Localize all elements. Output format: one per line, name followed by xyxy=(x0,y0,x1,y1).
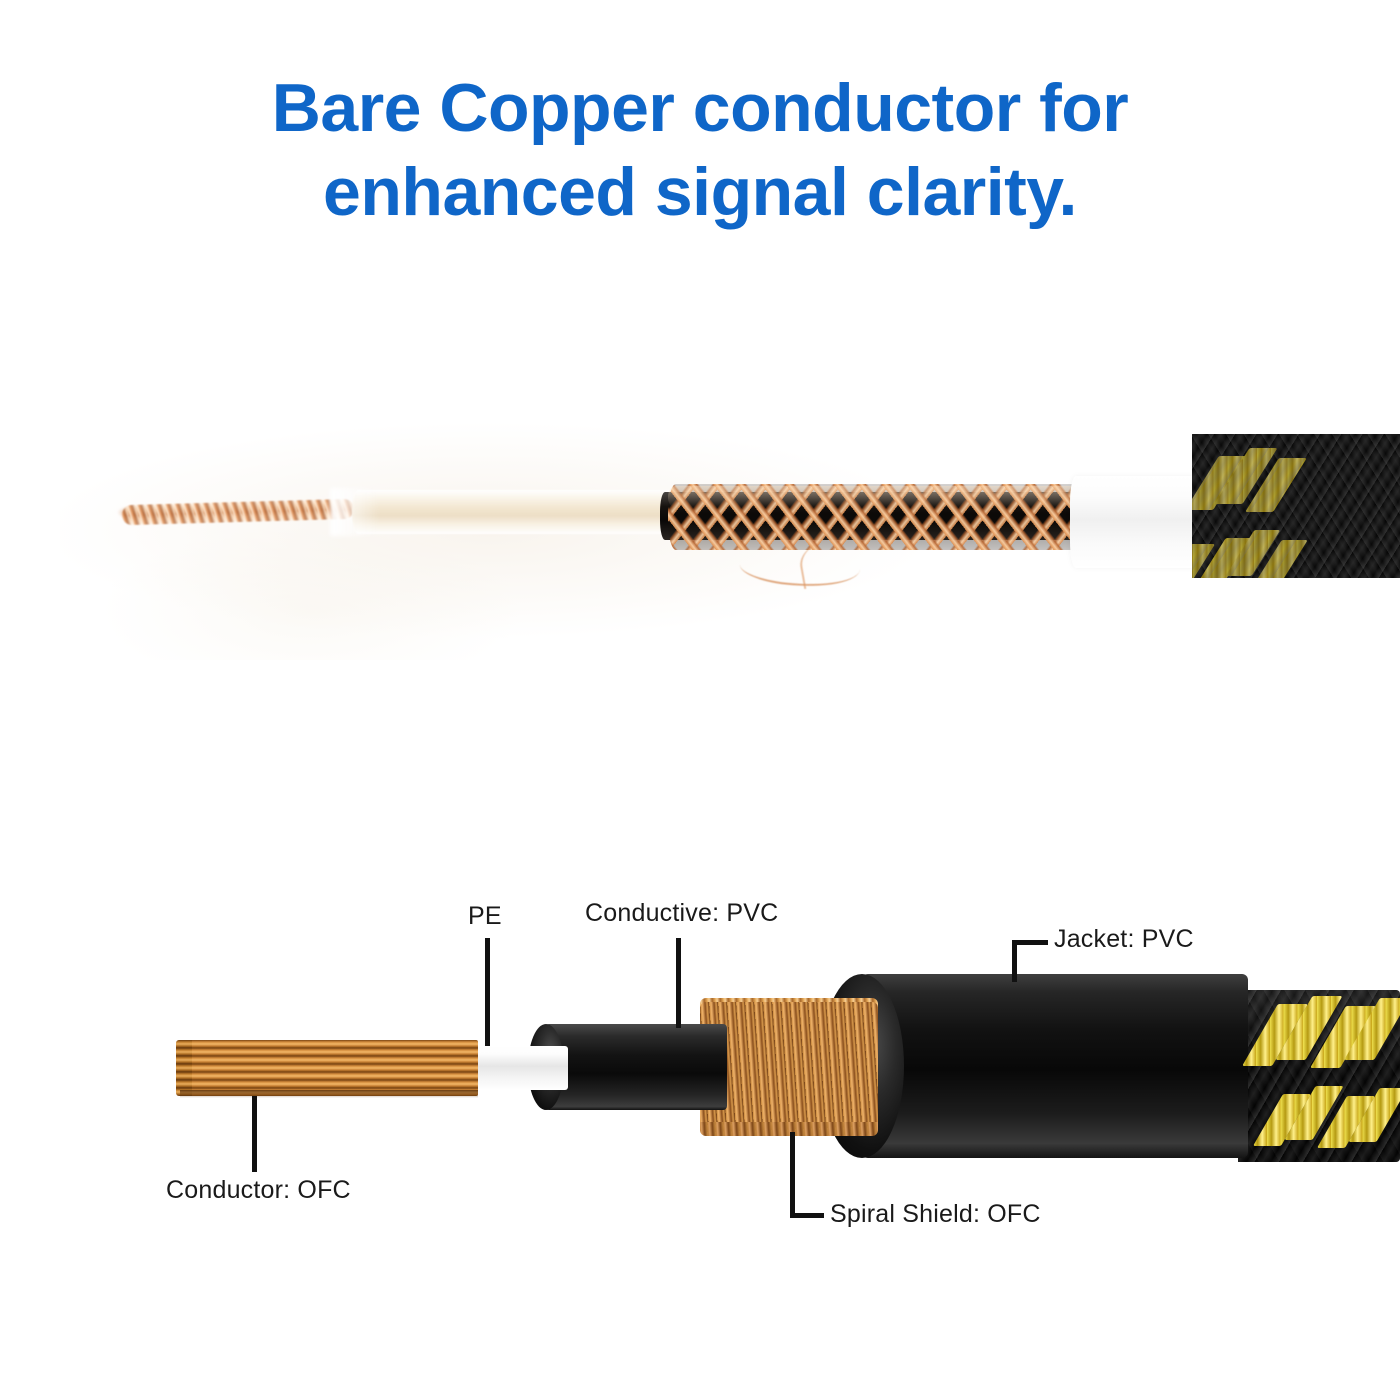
leader-line-spiral-shield-vertical xyxy=(790,1132,795,1218)
diagram-conductor-shadow xyxy=(180,1090,478,1098)
cable-construction-diagram: PE Conductive: PVC Jacket: PVC Conductor… xyxy=(0,0,1400,1400)
diagram-conductor-tip xyxy=(176,1040,192,1096)
diagram-conductive-pvc xyxy=(545,1024,727,1110)
infographic-page: Bare Copper conductor for enhanced signa… xyxy=(0,0,1400,1400)
leader-line-spiral-shield-horizontal xyxy=(790,1213,824,1218)
label-conductive-pvc: Conductive: PVC xyxy=(585,898,778,928)
leader-line-jacket-vertical xyxy=(1012,940,1017,982)
leader-line-jacket-horizontal xyxy=(1012,940,1048,945)
leader-line-pe xyxy=(485,938,490,1046)
leader-line-conductor xyxy=(252,1096,257,1172)
label-conductor-ofc: Conductor: OFC xyxy=(166,1175,351,1205)
diagram-conductor-ofc xyxy=(180,1040,478,1096)
diagram-spiral-shield-bottom xyxy=(700,1122,878,1136)
label-spiral-shield-ofc: Spiral Shield: OFC xyxy=(830,1199,1041,1229)
label-jacket-pvc: Jacket: PVC xyxy=(1054,924,1194,954)
diagram-jacket-pvc xyxy=(862,974,1248,1158)
leader-line-conductive xyxy=(676,938,681,1028)
diagram-braided-sleeve xyxy=(1238,990,1400,1162)
label-pe: PE xyxy=(468,901,502,931)
